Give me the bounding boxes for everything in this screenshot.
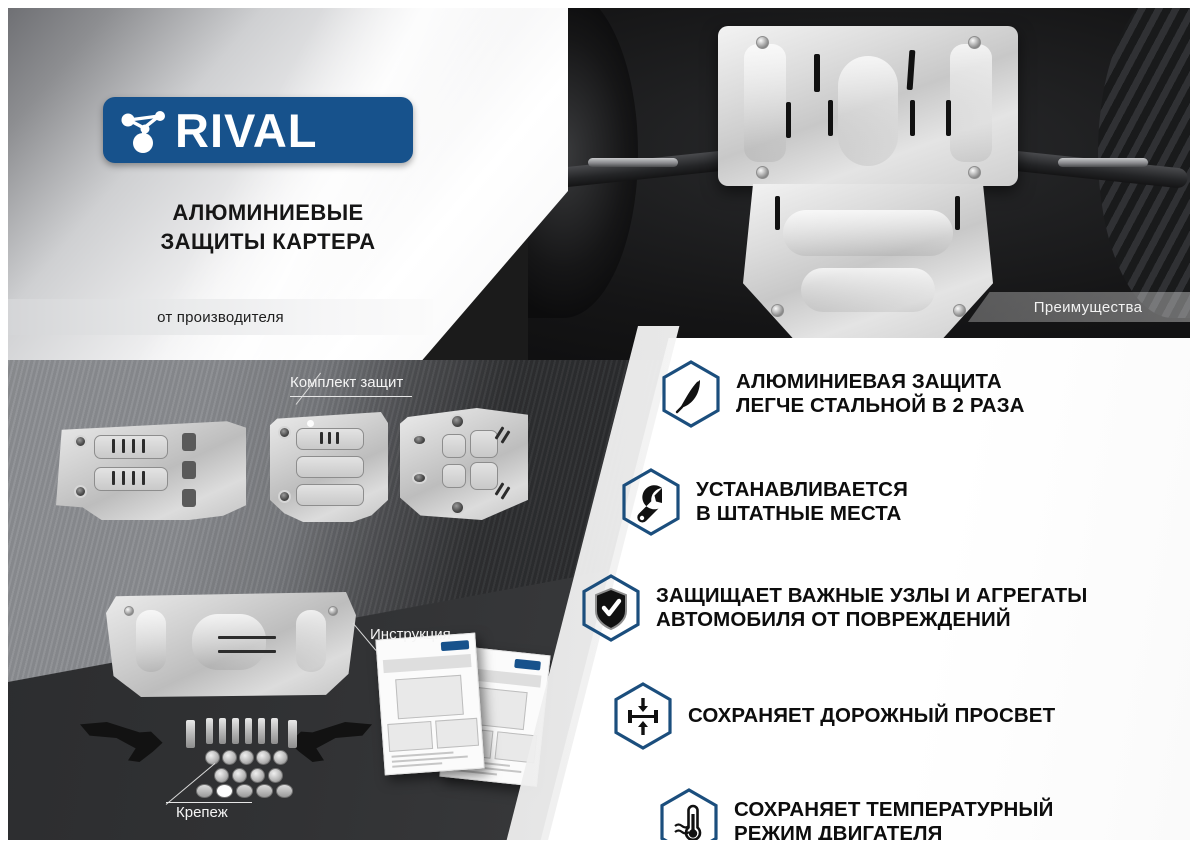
underbody-photo: Преимущества bbox=[528, 8, 1190, 360]
page-title: АЛЮМИНИЕВЫЕ ЗАЩИТЫ КАРТЕРА bbox=[103, 198, 433, 257]
skid-plate-main bbox=[106, 592, 356, 697]
benefit-line-3b: АВТОМОБИЛЯ ОТ ПОВРЕЖДЕНИЙ bbox=[656, 608, 1087, 632]
engine-skid-plate bbox=[718, 26, 1018, 186]
instruction-callout-label: Инструкция bbox=[370, 626, 451, 643]
benefit-text-1: АЛЮМИНИЕВАЯ ЗАЩИТА ЛЕГЧЕ СТАЛЬНОЙ В 2 РА… bbox=[736, 370, 1025, 418]
benefit-text-2: УСТАНАВЛИВАЕТСЯ В ШТАТНЫЕ МЕСТА bbox=[696, 478, 908, 526]
wrench-icon bbox=[620, 468, 682, 536]
benefit-text-3: ЗАЩИЩАЕТ ВАЖНЫЕ УЗЛЫ И АГРЕГАТЫ АВТОМОБИ… bbox=[656, 584, 1087, 632]
fasteners-callout-underline bbox=[166, 802, 252, 803]
benefit-row-3: ЗАЩИЩАЕТ ВАЖНЫЕ УЗЛЫ И АГРЕГАТЫ АВТОМОБИ… bbox=[620, 574, 1190, 642]
benefit-line-5b: РЕЖИМ ДВИГАТЕЛЯ bbox=[734, 822, 1053, 840]
subtitle-strip: от производителя bbox=[8, 299, 433, 335]
skid-plate-c bbox=[400, 408, 528, 520]
ground-clearance-icon bbox=[612, 682, 674, 750]
shield-check-icon bbox=[580, 574, 642, 642]
benefit-line-2a: УСТАНАВЛИВАЕТСЯ bbox=[696, 478, 908, 502]
benefits-list: АЛЮМИНИЕВАЯ ЗАЩИТА ЛЕГЧЕ СТАЛЬНОЙ В 2 РА… bbox=[620, 360, 1190, 840]
kit-callout-dot bbox=[307, 420, 314, 427]
infographic-poster: Преимущества bbox=[0, 0, 1200, 848]
rival-wordmark: RIVAL bbox=[175, 107, 318, 154]
poster-canvas: Преимущества bbox=[8, 8, 1190, 840]
benefit-text-5: СОХРАНЯЕТ ТЕМПЕРАТУРНЫЙ РЕЖИМ ДВИГАТЕЛЯ bbox=[734, 798, 1053, 840]
benefit-line-1a: АЛЮМИНИЕВАЯ ЗАЩИТА bbox=[736, 370, 1025, 394]
transmission-skid-plate bbox=[743, 184, 993, 344]
instruction-sheet-front bbox=[375, 633, 484, 776]
skid-plate-a bbox=[56, 415, 246, 520]
benefit-row-2: УСТАНАВЛИВАЕТСЯ В ШТАТНЫЕ МЕСТА bbox=[620, 468, 1190, 536]
thermometer-icon bbox=[658, 788, 720, 840]
benefit-row-5: СОХРАНЯЕТ ТЕМПЕРАТУРНЫЙ РЕЖИМ ДВИГАТЕЛЯ bbox=[620, 788, 1190, 840]
benefit-line-5a: СОХРАНЯЕТ ТЕМПЕРАТУРНЫЙ bbox=[734, 798, 1053, 822]
subtitle-label: от производителя bbox=[157, 309, 284, 326]
kit-callout-underline bbox=[290, 396, 412, 397]
benefit-line-4a: СОХРАНЯЕТ ДОРОЖНЫЙ ПРОСВЕТ bbox=[688, 704, 1055, 728]
fasteners-callout-label: Крепеж bbox=[176, 804, 228, 821]
benefit-line-3a: ЗАЩИЩАЕТ ВАЖНЫЕ УЗЛЫ И АГРЕГАТЫ bbox=[656, 584, 1087, 608]
molecule-icon bbox=[115, 104, 171, 156]
tie-rod-left bbox=[588, 158, 678, 167]
advantages-tag: Преимущества bbox=[968, 292, 1190, 322]
benefit-row-1: АЛЮМИНИЕВАЯ ЗАЩИТА ЛЕГЧЕ СТАЛЬНОЙ В 2 РА… bbox=[620, 360, 1190, 428]
skid-plate-b bbox=[270, 412, 388, 522]
kit-callout-label: Комплект защит bbox=[290, 374, 403, 391]
benefit-line-2b: В ШТАТНЫЕ МЕСТА bbox=[696, 502, 908, 526]
advantages-tag-label: Преимущества bbox=[1034, 299, 1142, 316]
page-title-line2: ЗАЩИТЫ КАРТЕРА bbox=[103, 227, 433, 256]
benefit-line-1b: ЛЕГЧЕ СТАЛЬНОЙ В 2 РАЗА bbox=[736, 394, 1025, 418]
benefit-row-4: СОХРАНЯЕТ ДОРОЖНЫЙ ПРОСВЕТ bbox=[620, 682, 1190, 750]
page-title-line1: АЛЮМИНИЕВЫЕ bbox=[103, 198, 433, 227]
rival-logo[interactable]: RIVAL bbox=[103, 97, 413, 163]
benefit-text-4: СОХРАНЯЕТ ДОРОЖНЫЙ ПРОСВЕТ bbox=[688, 704, 1055, 728]
leaf-icon bbox=[660, 360, 722, 428]
tie-rod-right bbox=[1058, 158, 1148, 167]
